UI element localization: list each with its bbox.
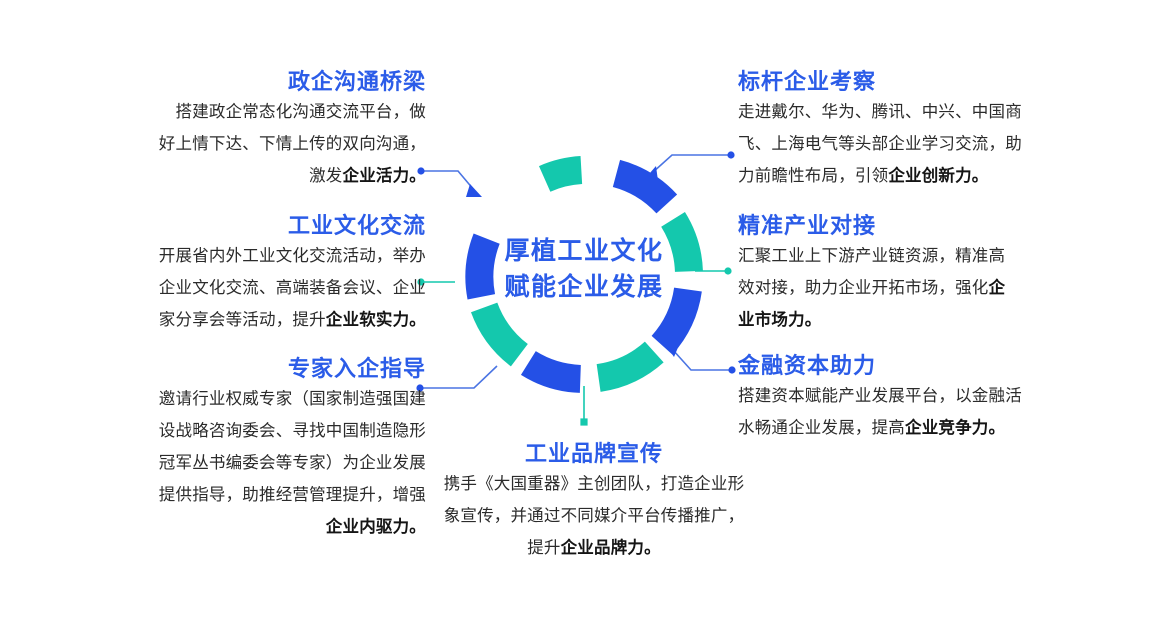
item-block-zhuanjia-zhidao[interactable]: 专家入企指导 邀请行业权威专家（国家制造强国建设战略咨询委会、寻找中国制造隐形冠… <box>108 355 426 543</box>
body-text-normal: 携手《大国重器》主创团队，打造企业形 <box>444 475 745 493</box>
item-title: 工业文化交流 <box>108 212 426 240</box>
item-title: 专家入企指导 <box>108 355 426 383</box>
item-body-line: 好上情下达、下情上传的双向沟通， <box>108 128 426 160</box>
body-text-normal: 邀请行业权威专家（国家制造强国建 <box>159 390 426 408</box>
body-text-emphasis: 业市场力。 <box>738 311 822 329</box>
segment-top-left <box>545 170 582 179</box>
item-body-line: 设战略咨询委会、寻找中国制造隐形 <box>108 415 426 447</box>
item-body-line: 提升企业品牌力。 <box>420 532 768 564</box>
segment-left-lower <box>484 307 519 355</box>
connector-dot <box>724 267 731 274</box>
item-block-pinpai-xuanchuan[interactable]: 工业品牌宣传 携手《大国重器》主创团队，打造企业形象宣传，并通过不同媒介平台传播… <box>420 440 768 564</box>
item-body-line: 飞、上海电气等头部企业学习交流，助 <box>738 128 1044 160</box>
segment-top-right <box>616 173 666 204</box>
body-text-normal: 激发 <box>309 167 342 185</box>
body-text-emphasis: 企业活力。 <box>343 167 427 185</box>
body-text-emphasis: 企业创新力。 <box>888 167 988 185</box>
connector-left-1 <box>417 167 482 197</box>
arrowhead <box>664 342 679 357</box>
item-body-line: 企业文化交流、高端装备会议、企业 <box>108 272 426 304</box>
item-body: 邀请行业权威专家（国家制造强国建设战略咨询委会、寻找中国制造隐形冠军丛书编委会等… <box>108 383 426 544</box>
item-body: 携手《大国重器》主创团队，打造企业形象宣传，并通过不同媒介平台传播推广，提升企业… <box>420 468 768 565</box>
body-text-emphasis: 企业品牌力。 <box>561 539 661 557</box>
item-title: 金融资本助力 <box>738 352 1044 380</box>
body-text-emphasis: 企 <box>989 279 1006 297</box>
body-text-normal: 象宣传，并通过不同媒介平台传播推广， <box>444 507 745 525</box>
item-body-line: 企业内驱力。 <box>108 511 426 543</box>
body-text-emphasis: 企业内驱力。 <box>326 518 426 536</box>
body-text-normal: 冠军丛书编委会等专家）为企业发展 <box>159 454 426 472</box>
item-body: 开展省内外工业文化交流活动，举办企业文化交流、高端装备会议、企业家分享会等活动，… <box>108 240 426 337</box>
item-body-line: 象宣传，并通过不同媒介平台传播推广， <box>420 500 768 532</box>
body-text-normal: 提升 <box>527 539 560 557</box>
item-body: 汇聚工业上下游产业链资源，精准高效对接，助力企业开拓市场，强化企业市场力。 <box>738 240 1044 337</box>
body-text-normal: 飞、上海电气等头部企业学习交流，助 <box>738 135 1022 153</box>
segment-bottom-right <box>599 352 655 378</box>
body-text-normal: 效对接，助力企业开拓市场，强化 <box>738 279 989 297</box>
item-body-line: 冠军丛书编委会等专家）为企业发展 <box>108 447 426 479</box>
item-title: 工业品牌宣传 <box>420 440 768 468</box>
item-body-line: 汇聚工业上下游产业链资源，精准高 <box>738 240 1044 272</box>
body-text-normal: 力前瞻性布局，引领 <box>738 167 888 185</box>
item-body: 搭建资本赋能产业发展平台，以金融活水畅通企业发展，提高企业竞争力。 <box>738 380 1044 444</box>
item-title: 标杆企业考察 <box>738 68 1044 96</box>
connector-bottom <box>580 386 587 426</box>
item-body-line: 搭建资本赋能产业发展平台，以金融活 <box>738 380 1044 412</box>
item-body-line: 力前瞻性布局，引领企业创新力。 <box>738 160 1044 192</box>
item-body-line: 业市场力。 <box>738 304 1044 336</box>
item-block-zhengqi-goutong[interactable]: 政企沟通桥梁 搭建政企常态化沟通交流平台，做好上情下达、下情上传的双向沟通，激发… <box>108 68 426 192</box>
body-text-normal: 搭建资本赋能产业发展平台，以金融活 <box>738 387 1022 405</box>
item-body-line: 开展省内外工业文化交流活动，举办 <box>108 240 426 272</box>
connector-left-3 <box>416 366 497 392</box>
item-block-gongye-wenhua[interactable]: 工业文化交流 开展省内外工业文化交流活动，举办企业文化交流、高端装备会议、企业家… <box>108 212 426 336</box>
item-body-line: 激发企业活力。 <box>108 160 426 192</box>
item-body-line: 效对接，助力企业开拓市场，强化企 <box>738 272 1044 304</box>
center-label-line-2: 赋能企业发展 <box>464 270 704 306</box>
body-text-normal: 好上情下达、下情上传的双向沟通， <box>159 135 426 153</box>
item-block-jingzhun-duijie[interactable]: 精准产业对接 汇聚工业上下游产业链资源，精准高效对接，助力企业开拓市场，强化企业… <box>738 212 1044 336</box>
item-body-line: 走进戴尔、华为、腾讯、中兴、中国商 <box>738 96 1044 128</box>
item-block-jinrong-zhuli[interactable]: 金融资本助力 搭建资本赋能产业发展平台，以金融活水畅通企业发展，提高企业竞争力。 <box>738 352 1044 444</box>
connector-dot <box>580 418 587 425</box>
body-text-normal: 提供指导，助推经营管理提升，增强 <box>159 486 426 504</box>
infographic-canvas: 厚植工业文化 赋能企业发展 政企沟通桥梁 搭建政企常态化沟通交流平台，做好上情下… <box>0 0 1160 632</box>
body-text-normal: 搭建政企常态化沟通交流平台，做 <box>176 103 427 121</box>
item-body-line: 水畅通企业发展，提高企业竞争力。 <box>738 412 1044 444</box>
body-text-normal: 企业文化交流、高端装备会议、企业 <box>159 279 426 297</box>
item-block-biaogan-kaocha[interactable]: 标杆企业考察 走进戴尔、华为、腾讯、中兴、中国商飞、上海电气等头部企业学习交流，… <box>738 68 1044 192</box>
body-text-emphasis: 企业竞争力。 <box>905 419 1005 437</box>
item-body-line: 携手《大国重器》主创团队，打造企业形 <box>420 468 768 500</box>
body-text-normal: 汇聚工业上下游产业链资源，精准高 <box>738 247 1005 265</box>
center-label-line-1: 厚植工业文化 <box>464 234 704 270</box>
body-text-normal: 开展省内外工业文化交流活动，举办 <box>159 247 426 265</box>
body-text-normal: 家分享会等活动，提升 <box>159 311 326 329</box>
item-body-line: 搭建政企常态化沟通交流平台，做 <box>108 96 426 128</box>
connector-right-1 <box>643 151 735 181</box>
connector-dot <box>727 151 734 158</box>
segment-bottom-left <box>528 363 580 379</box>
body-text-emphasis: 企业软实力。 <box>326 311 426 329</box>
item-title: 精准产业对接 <box>738 212 1044 240</box>
arrowhead <box>466 184 482 197</box>
item-title: 政企沟通桥梁 <box>108 68 426 96</box>
center-label: 厚植工业文化 赋能企业发展 <box>464 234 704 305</box>
body-text-normal: 走进戴尔、华为、腾讯、中兴、中国商 <box>738 103 1022 121</box>
item-body: 搭建政企常态化沟通交流平台，做好上情下达、下情上传的双向沟通，激发企业活力。 <box>108 96 426 193</box>
body-text-normal: 设战略咨询委会、寻找中国制造隐形 <box>159 422 426 440</box>
body-text-normal: 水畅通企业发展，提高 <box>738 419 905 437</box>
item-body-line: 邀请行业权威专家（国家制造强国建 <box>108 383 426 415</box>
connector-dot <box>728 366 735 373</box>
arrowhead <box>643 166 658 181</box>
item-body: 走进戴尔、华为、腾讯、中兴、中国商飞、上海电气等头部企业学习交流，助力前瞻性布局… <box>738 96 1044 193</box>
item-body-line: 提供指导，助推经营管理提升，增强 <box>108 479 426 511</box>
connector-right-3 <box>664 342 736 374</box>
item-body-line: 家分享会等活动，提升企业软实力。 <box>108 304 426 336</box>
